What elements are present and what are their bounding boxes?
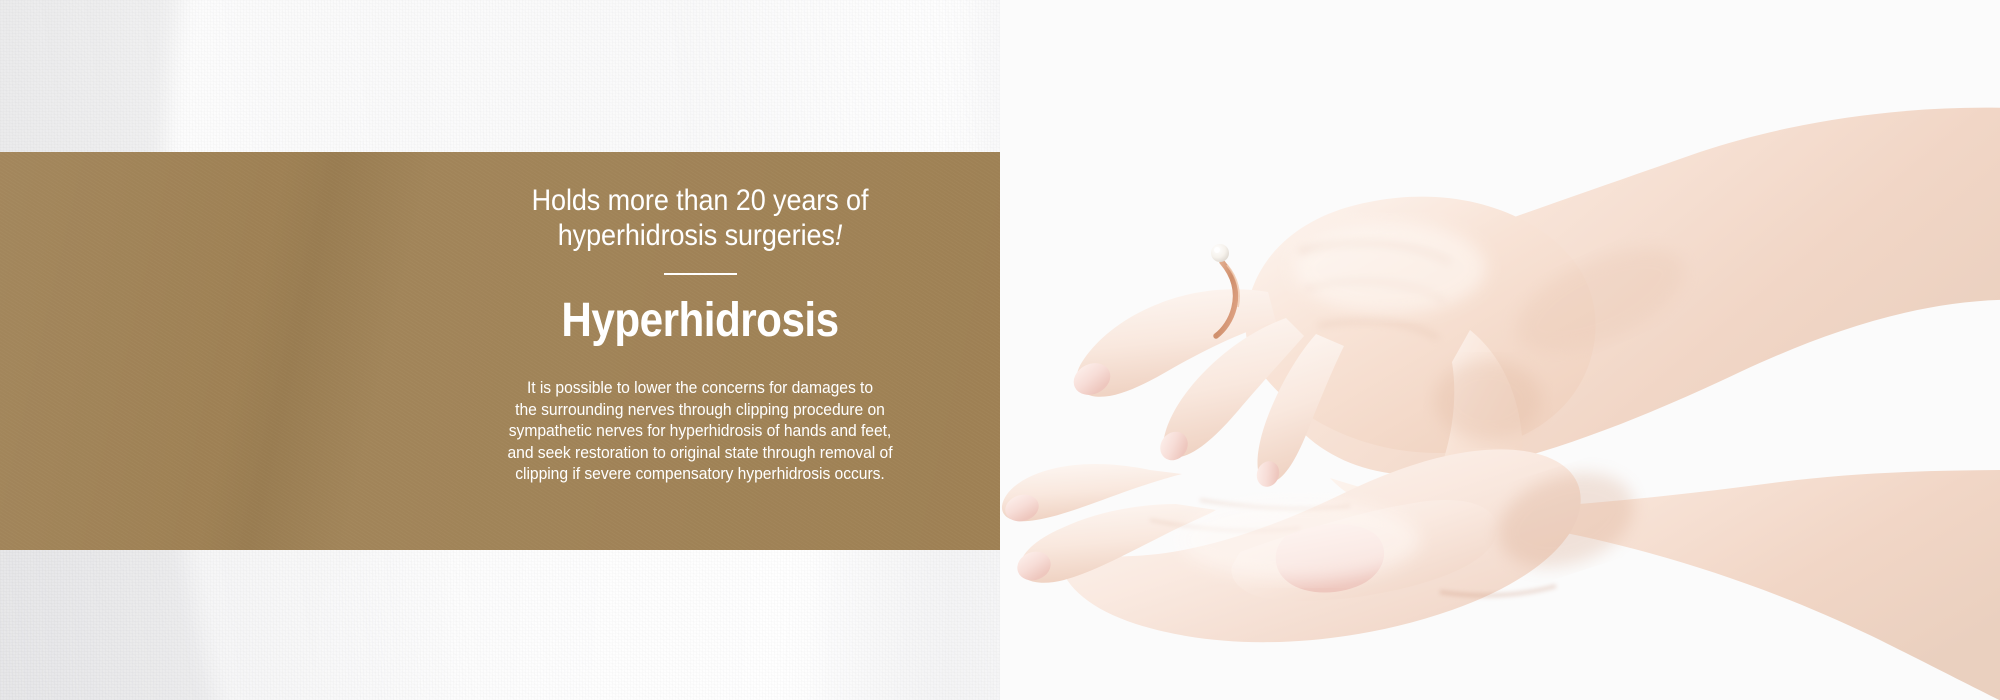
hyperhidrosis-banner: Holds more than 20 years of hyperhidrosi… (0, 0, 2000, 700)
panel-headline-exclamation: ! (835, 219, 842, 252)
panel-body-text: It is possible to lower the concerns for… (415, 347, 985, 486)
text-panel: Holds more than 20 years of hyperhidrosi… (0, 152, 1000, 550)
panel-title: Hyperhidrosis (436, 295, 964, 347)
panel-headline: Holds more than 20 years of hyperhidrosi… (430, 152, 970, 253)
panel-headline-text: Holds more than 20 years of hyperhidrosi… (532, 184, 869, 252)
panel-content: Holds more than 20 years of hyperhidrosi… (400, 152, 1000, 550)
hands-photo (1000, 0, 2000, 700)
divider-line (664, 273, 737, 275)
divider-wrapper (400, 253, 1000, 295)
